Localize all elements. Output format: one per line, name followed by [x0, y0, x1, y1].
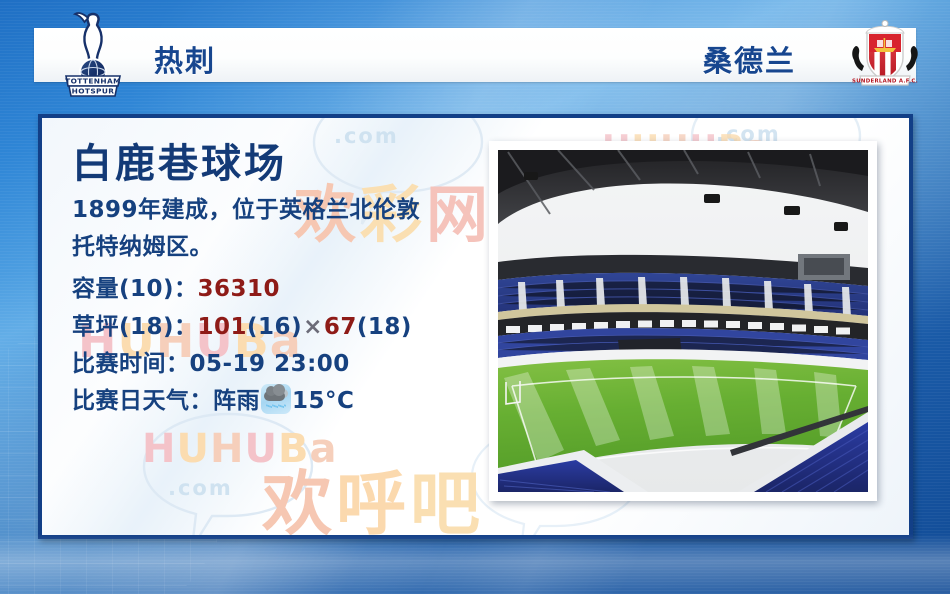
capacity-row: 容量(10)：36310 — [72, 271, 492, 308]
pitch-row: 草坪(18)：101(16)×67(18) — [72, 309, 492, 346]
weather-condition: 阵雨 — [213, 388, 260, 414]
weather-temperature: 15°C — [292, 388, 354, 414]
bottom-glow — [0, 534, 950, 594]
watermark-brand-cn: 欢呼吧 — [262, 448, 484, 539]
stadium-photo-frame — [489, 141, 877, 501]
stadium-title: 白鹿巷球场 — [72, 142, 492, 186]
match-info-graphic: 热刺 桑德兰 TOTTENHAM — [0, 0, 950, 594]
pitch-width-rank: (18) — [357, 314, 412, 340]
kickoff-time-label: 比赛时间： — [72, 351, 190, 377]
svg-text:HOTSPUR: HOTSPUR — [72, 87, 115, 96]
sunderland-afc-crest-icon: SUNDERLAND A.F.C. — [848, 18, 922, 92]
stadium-details: 白鹿巷球场 1899年建成，位于英格兰北伦敦 托特纳姆区。 容量(10)：363… — [72, 142, 492, 420]
stadium-info-card: .com .com HUHUBa .com 欢彩 — [38, 114, 913, 539]
capacity-value: 36310 — [198, 276, 281, 302]
weather-label: 比赛日天气： — [72, 388, 213, 414]
white-hart-lane-stadium-photo — [498, 150, 868, 492]
watermark-brand-latin: HUHUBa — [142, 426, 337, 472]
pitch-length-rank: (16) — [247, 314, 302, 340]
pitch-width-value: 67 — [324, 314, 357, 340]
stadium-description-line-1: 1899年建成，位于英格兰北伦敦 — [72, 194, 492, 227]
tottenham-hotspur-crest-icon: TOTTENHAM HOTSPUR — [62, 12, 124, 98]
kickoff-time-value: 05-19 23:00 — [190, 351, 350, 377]
matchday-weather-row: 比赛日天气：阵雨15°C — [72, 383, 492, 420]
rain-shower-icon — [261, 384, 291, 414]
header-bar: 热刺 桑德兰 — [34, 28, 916, 82]
pitch-label: 草坪(18)： — [72, 314, 198, 340]
watermark-speech-bubble: HUHUBa .com — [134, 408, 322, 539]
svg-text:TOTTENHAM: TOTTENHAM — [65, 77, 121, 86]
kickoff-time-row: 比赛时间：05-19 23:00 — [72, 346, 492, 383]
svg-text:SUNDERLAND A.F.C.: SUNDERLAND A.F.C. — [852, 79, 918, 85]
home-team-name: 热刺 — [154, 38, 216, 80]
pitch-length-value: 101 — [198, 314, 248, 340]
stadium-description-line-2: 托特纳姆区。 — [72, 231, 492, 264]
capacity-label: 容量(10)： — [72, 276, 198, 302]
watermark-domain-text: .com — [168, 476, 337, 500]
multiply-symbol: × — [302, 314, 324, 340]
away-team-name: 桑德兰 — [703, 38, 796, 80]
